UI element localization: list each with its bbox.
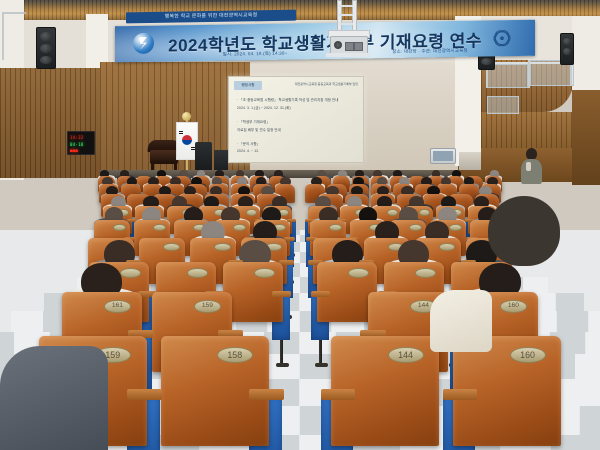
stage-amplifier-box [214, 150, 228, 172]
slide-header-tag: 행정사항 [234, 81, 262, 90]
seat-number-text: 161 [105, 301, 131, 312]
floor-tile [589, 311, 600, 331]
seat-number-plate [439, 243, 456, 251]
seat-number-plate [163, 243, 180, 251]
seat-number-plate: 160 [500, 300, 528, 313]
taeguk-blue [182, 140, 192, 145]
seat-number-plate [329, 224, 343, 231]
projection-screen: 행정사항 대전광역시교육청 중등교육과 학교생활기록부 담당 · 「초·중등교육… [228, 76, 364, 163]
seat-number-plate [153, 224, 167, 231]
slide-header-tag-text: 행정사항 [234, 81, 262, 90]
slide-line-6: 2024. 4. ~ 12. [237, 149, 259, 153]
slide-line-5: · 「문의 사항」 [237, 141, 260, 146]
seat-number-text: 144 [389, 348, 423, 362]
seat-number-plate [387, 209, 398, 216]
seat-number-text: 158 [218, 348, 252, 362]
white-cardigan [430, 290, 492, 352]
seat-number-text: 160 [511, 348, 545, 362]
foreground-audience-head [488, 196, 560, 266]
seat-number-plate: 159 [194, 300, 222, 313]
seat-number-text: 160 [501, 301, 527, 312]
seat-armrest [311, 291, 330, 297]
seat-support-leg [280, 339, 283, 364]
seat-armrest [272, 291, 291, 297]
seat-number-plate [409, 224, 423, 231]
seat-floor-mount [276, 363, 289, 367]
seat-number-plate [214, 243, 231, 251]
slide-header: 행정사항 대전광역시교육청 중등교육과 학교생활기록부 담당 [234, 81, 358, 90]
led-clock-line1: 14:32 [70, 135, 84, 140]
far-right-wood-wall [572, 90, 600, 185]
standing-presenter [520, 148, 544, 184]
loudspeaker-left [36, 27, 56, 69]
projector-vent-1 [345, 42, 354, 51]
floor-tile [11, 311, 42, 331]
seat-number-plate [233, 224, 247, 231]
floor-tile [586, 332, 600, 355]
left-stair-railing [2, 12, 26, 60]
side-table [459, 152, 481, 170]
seat-armrest [321, 389, 356, 400]
draped-coat [0, 346, 108, 450]
railing-post-2 [528, 60, 530, 88]
seat-number-text: 159 [195, 301, 221, 312]
slide-line-4: 자료집 배부 및 연수 일정 안내 [237, 127, 281, 132]
seat-armrest [127, 389, 162, 400]
seat-number-plate [246, 209, 257, 216]
floor-tile [0, 332, 14, 355]
floor-tile [575, 354, 600, 379]
seat-armrest [443, 389, 478, 400]
slide-line-2: 2024. 3. 1.(금) ~ 2024. 12. 31.(화) [237, 105, 291, 110]
auditorium-scene: 2024학년도 학교생활기록부 기재요령 연수 일시: 2024. 04. 18… [0, 0, 600, 450]
seat-number-plate [419, 209, 430, 216]
seat-armrest [249, 389, 284, 400]
floor-tile [557, 311, 588, 331]
glass-railing-3 [487, 96, 519, 114]
led-clock-display: 14:32 04-18 ■■■ [67, 131, 95, 155]
projector-base-plate [326, 53, 370, 57]
piano-leg-1 [151, 162, 154, 170]
slide-header-meta: 대전광역시교육청 중등교육과 학교생활기록부 담당 [295, 82, 358, 86]
monitor-screen [433, 151, 453, 161]
seat-support-leg [319, 339, 322, 364]
led-clock-line2: 04-18 [70, 142, 84, 147]
presenter-body [521, 159, 542, 184]
slide-line-3: · 「학생부 기재요령」 [237, 119, 270, 124]
seat-floor-mount [315, 363, 328, 367]
seat-number-plate: 158 [217, 347, 253, 363]
confidence-monitor [430, 148, 456, 164]
flag-finial-icon [182, 112, 191, 121]
presenter-microphone [526, 162, 531, 171]
floor-tile [580, 406, 600, 435]
led-clock-line3: ■■■ [70, 148, 78, 153]
seat-number-plate [113, 224, 127, 231]
piano-leg-2 [174, 162, 177, 170]
projector-lens-icon [334, 41, 342, 49]
slide-line-1: · 「초·중등교육법 시행령」 학교생활기록 작성 및 관리지침 개정 안내 [237, 97, 338, 102]
floor-tile [556, 293, 584, 311]
seat-number-plate [449, 224, 463, 231]
stage-wall-panel-left [0, 68, 104, 178]
floor-tile [558, 379, 600, 406]
seat-number-plate: 144 [388, 347, 424, 363]
seat-number-plate: 161 [104, 300, 132, 313]
loudspeaker-far-right [560, 33, 574, 65]
seat-number-plate: 160 [510, 347, 546, 363]
event-banner: 2024학년도 학교생활기록부 기재요령 연수 일시: 2024. 04. 18… [115, 20, 535, 63]
projector-vent-2 [354, 42, 363, 51]
